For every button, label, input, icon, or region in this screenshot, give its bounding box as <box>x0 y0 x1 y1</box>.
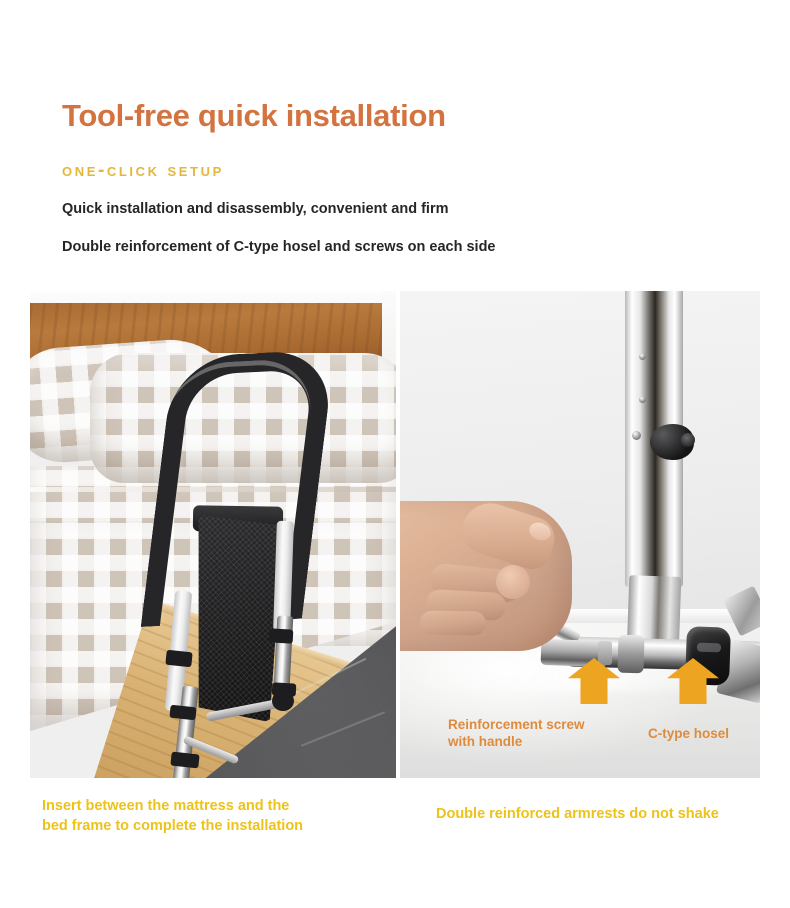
rubber-foot-right <box>272 691 294 711</box>
rivet-3 <box>632 431 641 440</box>
callout-label-reinforcement-screw: Reinforcement screw with handle <box>448 717 585 751</box>
callout-line-2: with handle <box>448 734 585 751</box>
hosel-gap <box>697 643 721 653</box>
header-text-block: Tool-free quick installation One-Click S… <box>62 100 762 255</box>
feature-line-2: Double reinforcement of C-type hosel and… <box>62 240 762 255</box>
black-clamp-3 <box>170 752 199 769</box>
caption-left-line-2: bed frame to complete the installation <box>42 817 303 837</box>
clamp-bolt-hole <box>681 433 695 447</box>
caption-right: Double reinforced armrests do not shake <box>436 805 719 825</box>
black-clamp-2 <box>169 705 196 721</box>
page-title: Tool-free quick installation <box>62 100 762 133</box>
rivet-1 <box>639 353 646 360</box>
reinforcement-screw-tip <box>598 641 612 665</box>
rivet-2 <box>639 396 646 403</box>
chrome-joint-collar <box>618 635 645 674</box>
callout-line-1: Reinforcement screw <box>448 717 585 734</box>
finger-3 <box>420 610 486 635</box>
product-photo-screw-hosel <box>400 291 760 778</box>
caption-left: Insert between the mattress and the bed … <box>42 797 303 836</box>
black-clamp-4 <box>269 628 294 643</box>
caption-left-line-1: Insert between the mattress and the <box>42 797 303 817</box>
product-photo-bed-installation <box>30 291 396 778</box>
black-clamp-1 <box>165 650 192 668</box>
page-subtitle: One-Click Setup <box>62 161 762 180</box>
feature-line-1: Quick installation and disassembly, conv… <box>62 202 762 217</box>
photo-row <box>30 291 760 778</box>
mesh-storage-pouch <box>191 515 283 723</box>
callout-label-c-type-hosel: C-type hosel <box>648 726 729 743</box>
